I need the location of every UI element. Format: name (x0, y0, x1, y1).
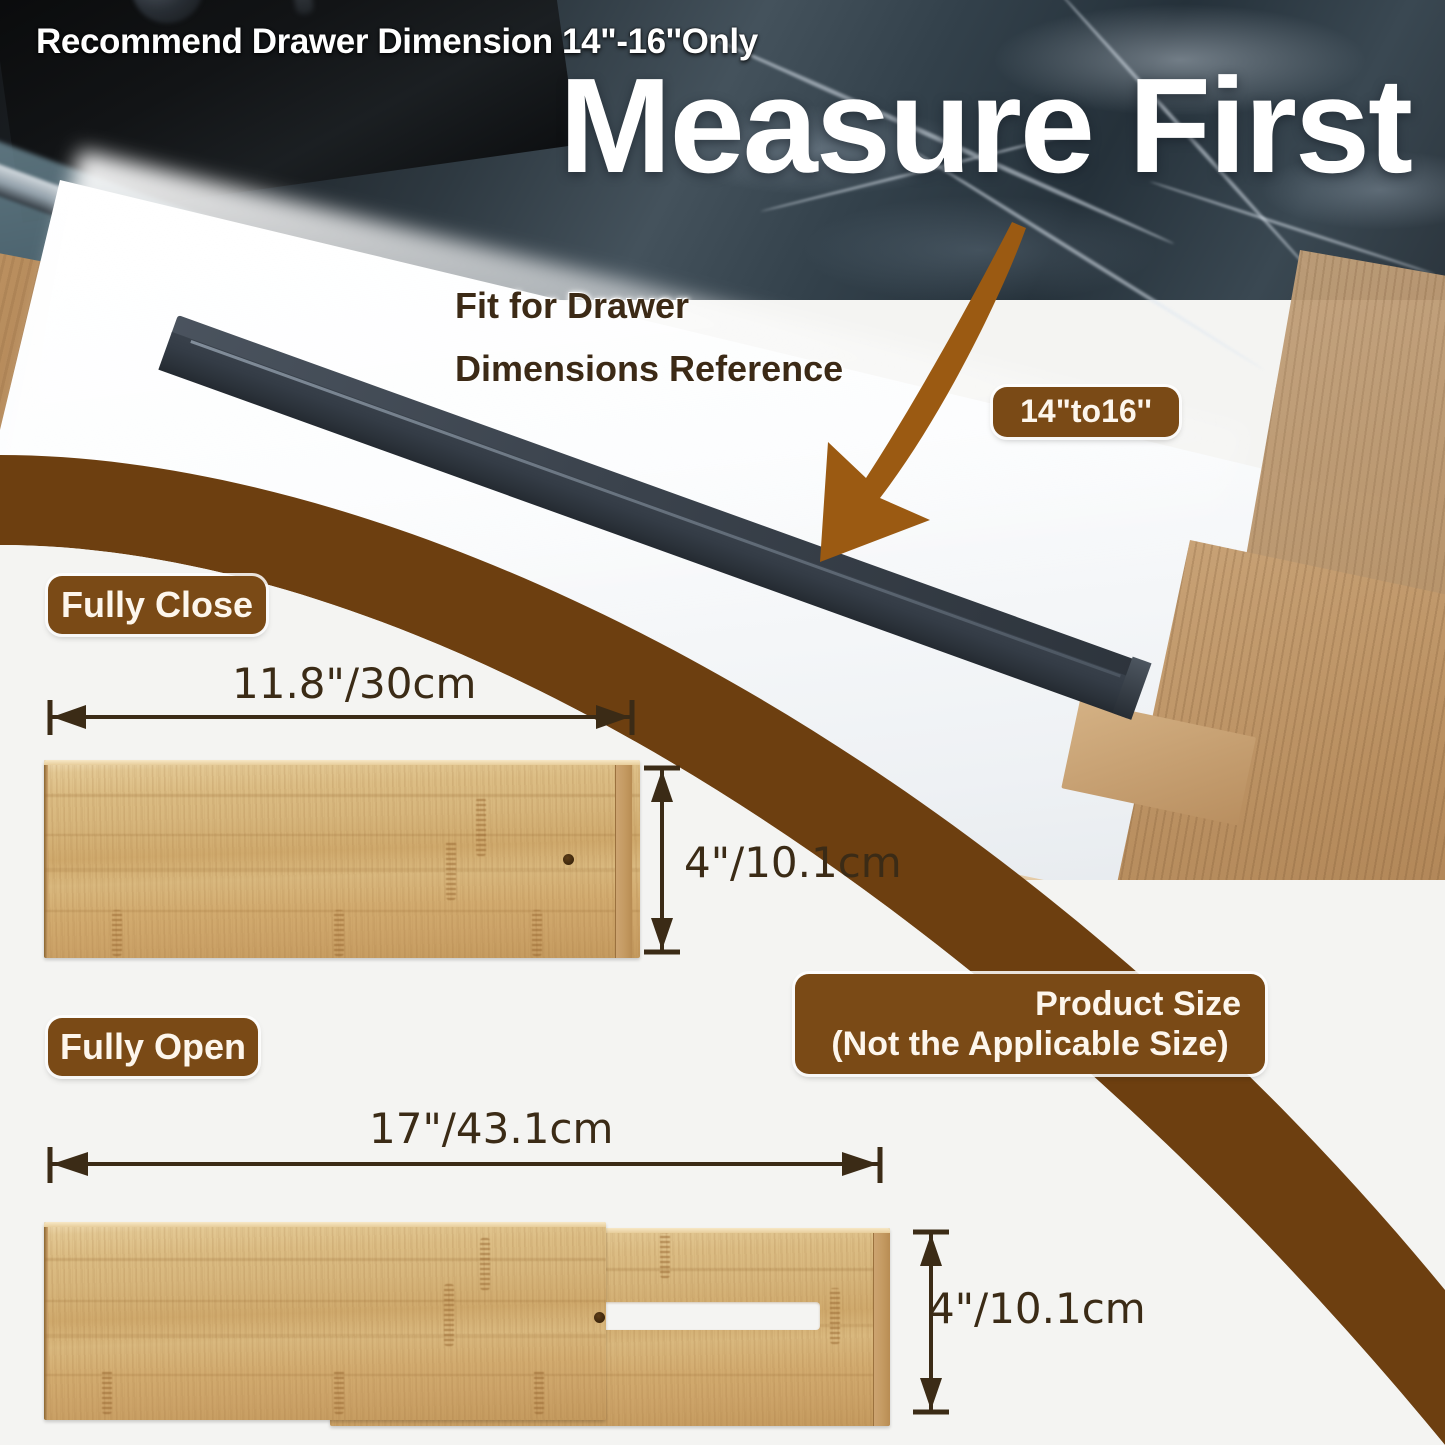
bamboo-board-closed (44, 760, 640, 958)
wood-grain (44, 1374, 606, 1376)
board-left-edge (44, 1222, 48, 1420)
bamboo-node (532, 910, 542, 956)
closed-height-label: 4"/10.1cm (684, 838, 902, 887)
fit-for-drawer-line1: Fit for Drawer (455, 285, 689, 327)
board-end-cap (873, 1228, 890, 1426)
pin-hole (563, 854, 574, 865)
drawer-range-badge: 14"to16'' (993, 387, 1179, 437)
bamboo-node (476, 798, 486, 856)
board-left-edge (44, 760, 48, 958)
page-title: Measure First (559, 58, 1411, 193)
bamboo-node (830, 1288, 840, 1344)
closed-width-label: 11.8"/30cm (232, 659, 476, 708)
bamboo-node (334, 1370, 344, 1414)
wood-grain (44, 1300, 606, 1302)
wood-grain (44, 1258, 606, 1261)
appliance-handle-icon (288, 0, 314, 16)
pin-hole (594, 1312, 605, 1323)
open-height-label: 4"/10.1cm (928, 1284, 1146, 1333)
bamboo-node (660, 1232, 670, 1278)
fully-close-badge: Fully Close (48, 576, 266, 634)
wood-grain (44, 834, 640, 836)
bamboo-node (444, 1284, 454, 1346)
infographic-canvas: Recommend Drawer Dimension 14"-16''Only … (0, 0, 1445, 1445)
fit-for-drawer-line2: Dimensions Reference (455, 348, 843, 390)
product-size-note-line1: Product Size (811, 984, 1249, 1024)
product-size-note-badge: Product Size (Not the Applicable Size) (795, 974, 1265, 1074)
bamboo-node (334, 910, 344, 956)
bamboo-node (534, 1370, 544, 1414)
bamboo-node (112, 910, 122, 956)
bamboo-board-open-front (44, 1222, 606, 1420)
fully-open-badge: Fully Open (48, 1018, 258, 1076)
wood-grain (44, 794, 640, 797)
wood-grain (44, 1334, 606, 1338)
bamboo-node (480, 1238, 490, 1290)
wood-grain (44, 868, 640, 872)
product-size-note-line2: (Not the Applicable Size) (811, 1024, 1249, 1064)
bamboo-node (102, 1370, 112, 1414)
board-end-cap (615, 760, 632, 958)
open-width-label: 17"/43.1cm (369, 1104, 613, 1153)
bamboo-node (446, 840, 456, 900)
